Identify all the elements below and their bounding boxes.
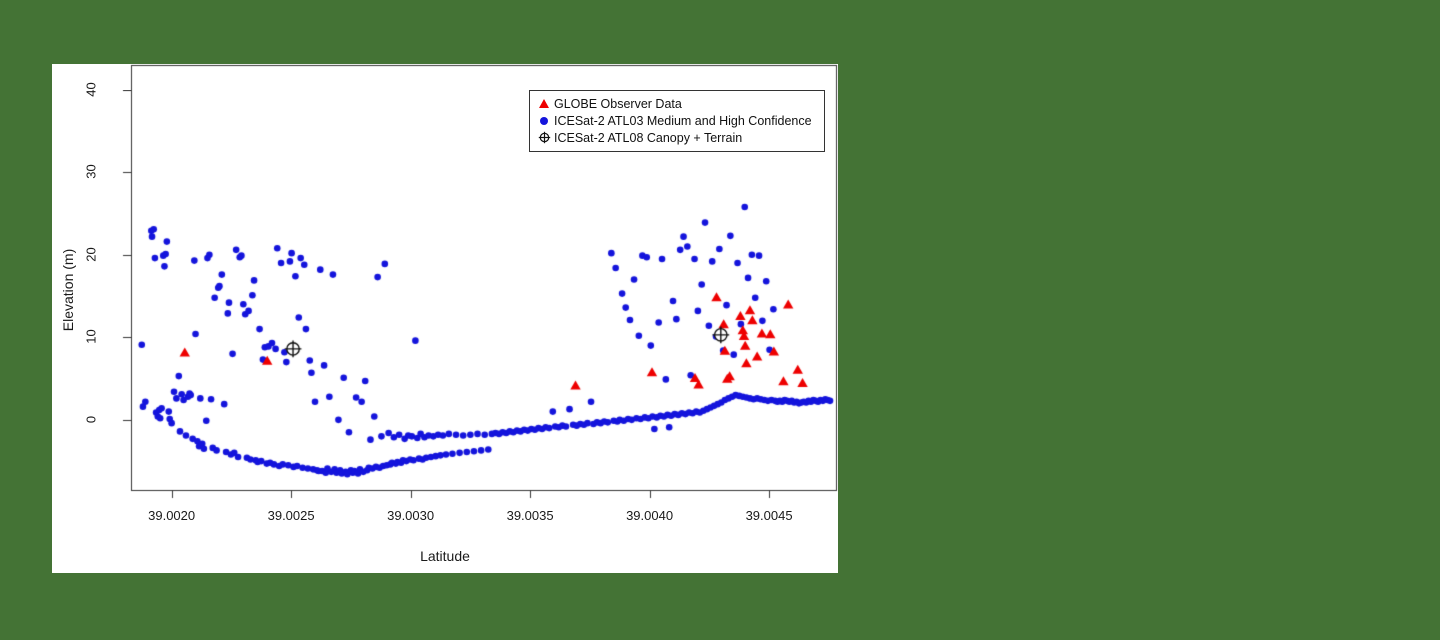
slide-background: Elevation (m) Latitude 39.002039.002539.… <box>0 0 1440 640</box>
legend-item-globe-observer: GLOBE Observer Data <box>536 95 818 112</box>
legend-item-atl03: ICESat-2 ATL03 Medium and High Confidenc… <box>536 112 818 129</box>
crosshair-marker-icon <box>536 131 552 144</box>
red-triangle-marker-icon <box>536 99 552 108</box>
x-tick-label: 39.0025 <box>268 508 315 523</box>
figure-card: Elevation (m) Latitude 39.002039.002539.… <box>52 64 838 573</box>
y-tick-label: 10 <box>84 320 99 354</box>
x-tick-label: 39.0030 <box>387 508 434 523</box>
x-tick-label: 39.0020 <box>148 508 195 523</box>
legend-item-atl08: ICESat-2 ATL08 Canopy + Terrain <box>536 129 818 146</box>
legend-label-globe-observer: GLOBE Observer Data <box>552 97 682 111</box>
blue-circle-marker-icon <box>536 117 552 125</box>
x-axis-title: Latitude <box>52 548 838 564</box>
y-tick-label: 20 <box>84 237 99 271</box>
chart-legend: GLOBE Observer Data ICESat-2 ATL03 Mediu… <box>529 90 825 152</box>
y-tick-label: 30 <box>84 155 99 189</box>
y-tick-label: 40 <box>84 72 99 106</box>
y-tick-label: 0 <box>84 402 99 436</box>
x-tick-label: 39.0040 <box>626 508 673 523</box>
y-axis-title: Elevation (m) <box>60 230 76 350</box>
legend-label-atl03: ICESat-2 ATL03 Medium and High Confidenc… <box>552 114 812 128</box>
x-tick-label: 39.0035 <box>507 508 554 523</box>
legend-label-atl08: ICESat-2 ATL08 Canopy + Terrain <box>552 131 742 145</box>
x-tick-label: 39.0045 <box>746 508 793 523</box>
